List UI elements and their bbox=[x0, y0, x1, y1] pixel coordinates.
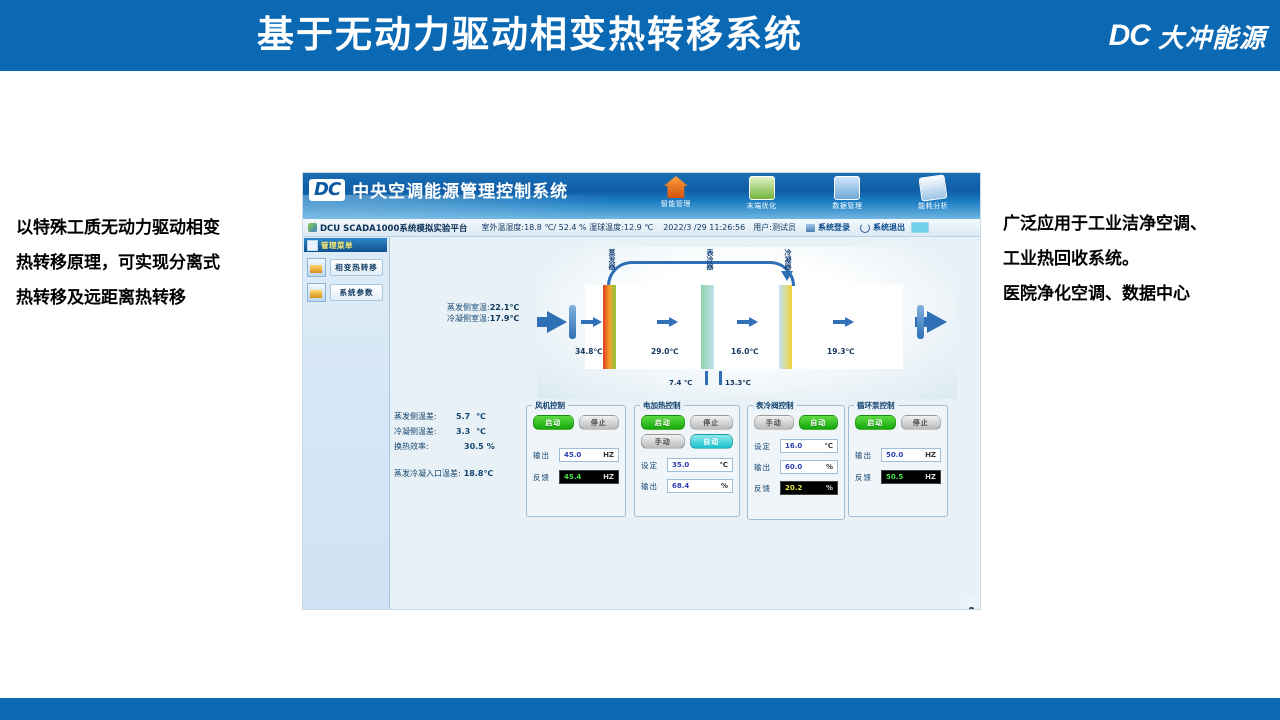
heater-setpoint-row: 设定 35.0 ℃ bbox=[641, 458, 733, 472]
pump-feedback-field: 50.5 HZ bbox=[881, 470, 941, 484]
panel-1-buttons-row-0: 启动 停止 bbox=[641, 415, 733, 430]
cooling-coil-label: 表冷器 bbox=[701, 249, 714, 270]
heater-setpoint-field[interactable]: 35.0 ℃ bbox=[667, 458, 733, 472]
valve-output-label: 输出 bbox=[754, 462, 776, 473]
panel-title-3: 循环泵控制 bbox=[854, 400, 898, 411]
slide-footer bbox=[0, 698, 1280, 720]
performance-stats: 蒸发侧温差: 5.7 ℃ 冷凝侧温差: 3.3 ℃ 换热效率: 30.5 % 蒸… bbox=[394, 409, 495, 481]
flow-arrow-icon-4 bbox=[845, 317, 854, 327]
nav-label-1: 末端优化 bbox=[723, 201, 801, 211]
valve-setpoint-unit: ℃ bbox=[825, 442, 833, 450]
refresh-icon bbox=[749, 176, 775, 200]
flow-arrow-icon-1 bbox=[593, 317, 602, 327]
heater-output-row: 输出 68.4 % bbox=[641, 479, 733, 493]
heater-output-field[interactable]: 68.4 % bbox=[667, 479, 733, 493]
panel-0-buttons-row-0: 启动 停止 bbox=[533, 415, 619, 430]
fan-output-label: 输出 bbox=[533, 450, 555, 461]
login-button[interactable]: 系统登录 bbox=[806, 222, 850, 233]
process-diagram: 蒸发器 表冷器 冷凝器 34.8℃ 29.0℃ 16.0℃ 19.3℃ 7.4 … bbox=[537, 247, 957, 399]
inlet-air-arrow-icon bbox=[547, 311, 567, 333]
stat-unit-1: ℃ bbox=[476, 424, 486, 439]
scada-brand: DC 中央空调能源管理控制系统 bbox=[309, 177, 568, 202]
nav-label-0: 智能管理 bbox=[637, 199, 715, 209]
caption-right-line-2: 工业热回收系统。 bbox=[1003, 241, 1280, 276]
brand-name-text: 大冲能源 bbox=[1158, 18, 1266, 55]
nav-item-terminal-optimization[interactable]: 末端优化 bbox=[723, 175, 801, 211]
status-chip bbox=[911, 222, 929, 233]
menu-icon bbox=[307, 240, 318, 251]
loop-arrow-icon bbox=[781, 271, 793, 281]
nav-item-energy-analysis[interactable]: 能耗分析 bbox=[894, 175, 972, 211]
valve-output-value: 60.0 bbox=[785, 463, 802, 471]
module-icon bbox=[307, 283, 326, 302]
panel-title-0: 风机控制 bbox=[532, 400, 568, 411]
valve-output-row: 输出 60.0 % bbox=[754, 460, 838, 474]
report-icon bbox=[919, 174, 948, 201]
evap-room-label: 蒸发侧室温: bbox=[447, 303, 490, 312]
nav-item-intelligent-management[interactable]: 智能管理 bbox=[637, 175, 715, 211]
stat-label-2: 换热效率: bbox=[394, 439, 456, 454]
valve-output-field[interactable]: 60.0 % bbox=[780, 460, 838, 474]
fan-feedback-value: 45.4 bbox=[564, 473, 581, 481]
sidebar-item-system-params[interactable]: 系统参数 bbox=[307, 283, 389, 302]
heater-start-button[interactable]: 启动 bbox=[641, 415, 685, 430]
scada-status-bar: DCU SCADA1000系统模拟实验平台 室外温湿度:18.8 ℃/ 52.4… bbox=[303, 219, 980, 237]
fan-feedback-field: 45.4 HZ bbox=[559, 470, 619, 484]
login-label: 系统登录 bbox=[818, 222, 850, 233]
stat-value-3: 18.8℃ bbox=[464, 466, 493, 481]
pump-feedback-label: 反馈 bbox=[855, 472, 877, 483]
pump-output-unit: HZ bbox=[925, 451, 936, 459]
brand-abbr-text: DC bbox=[1109, 19, 1150, 53]
scada-banner: DC 中央空调能源管理控制系统 智能管理 末端优化 数据管理 能耗分析 bbox=[303, 173, 980, 219]
sidebar-header-label: 管理菜单 bbox=[321, 240, 353, 251]
stat-value-2: 30.5 bbox=[464, 439, 484, 454]
fan-output-unit: HZ bbox=[603, 451, 614, 459]
current-user: 用户:测试员 bbox=[753, 222, 796, 233]
stat-row-2: 换热效率: 30.5 % bbox=[394, 439, 495, 454]
bottom-temp-1: 13.3℃ bbox=[725, 379, 751, 387]
dc-logo-icon: DC bbox=[309, 179, 345, 201]
panel-cooling-valve-control: 表冷阀控制 手动 自动 设定 16.0 ℃ 输出 60.0 % bbox=[747, 405, 845, 520]
heater-output-value: 68.4 bbox=[672, 482, 689, 490]
platform-icon bbox=[308, 223, 317, 232]
logout-button[interactable]: 系统退出 bbox=[860, 222, 905, 233]
flow-arrow-icon-2 bbox=[669, 317, 678, 327]
heater-manual-button[interactable]: 手动 bbox=[641, 434, 685, 449]
panel-3-buttons-row-0: 启动 停止 bbox=[855, 415, 941, 430]
sidebar-item-label-1: 系统参数 bbox=[330, 284, 383, 301]
slide-header: 基于无动力驱动相变热转移系统 DC 大冲能源 bbox=[0, 0, 1280, 71]
heater-setpoint-label: 设定 bbox=[641, 460, 663, 471]
stat-row-1: 冷凝侧温差: 3.3 ℃ bbox=[394, 424, 495, 439]
stat-label-3: 蒸发冷凝入口温差: bbox=[394, 466, 461, 481]
caption-left-line-2: 热转移原理，可实现分离式 bbox=[16, 245, 296, 280]
nav-item-data-management[interactable]: 数据管理 bbox=[808, 175, 886, 211]
bottom-temp-0: 7.4 ℃ bbox=[669, 379, 692, 387]
stats-spacer bbox=[394, 454, 495, 466]
pump-start-button[interactable]: 启动 bbox=[855, 415, 896, 430]
valve-setpoint-row: 设定 16.0 ℃ bbox=[754, 439, 838, 453]
cond-room-label: 冷凝侧室温: bbox=[447, 314, 490, 323]
air-temp-2: 16.0℃ bbox=[731, 347, 759, 356]
valve-auto-button[interactable]: 自动 bbox=[799, 415, 839, 430]
pump-feedback-row: 反馈 50.5 HZ bbox=[855, 470, 941, 484]
air-temp-3: 19.3℃ bbox=[827, 347, 855, 356]
valve-feedback-row: 反馈 20.2 % bbox=[754, 481, 838, 495]
air-temp-1: 29.0℃ bbox=[651, 347, 679, 356]
tick-mark-left bbox=[705, 371, 708, 385]
cond-room-value: 17.9℃ bbox=[490, 314, 519, 323]
panel-fan-control: 风机控制 启动 停止 输出 45.0 HZ 反馈 45.4 HZ bbox=[526, 405, 626, 517]
air-temp-0: 34.8℃ bbox=[575, 347, 603, 356]
pump-feedback-value: 50.5 bbox=[886, 473, 903, 481]
pump-output-label: 输出 bbox=[855, 450, 877, 461]
caption-left-line-1: 以特殊工质无动力驱动相变 bbox=[16, 210, 296, 245]
scada-screenshot: DC 中央空调能源管理控制系统 智能管理 末端优化 数据管理 能耗分析 bbox=[302, 172, 981, 610]
sidebar-item-phase-change[interactable]: 相变热转移 bbox=[307, 258, 389, 277]
pump-output-row: 输出 50.0 HZ bbox=[855, 448, 941, 462]
flow-tail-2 bbox=[657, 320, 669, 324]
condenser-label: 冷凝器 bbox=[779, 249, 792, 270]
valve-feedback-field: 20.2 % bbox=[780, 481, 838, 495]
tick-mark-right bbox=[719, 371, 722, 385]
outlet-air-arrow-icon bbox=[927, 311, 947, 333]
pump-output-value: 50.0 bbox=[886, 451, 903, 459]
caption-left: 以特殊工质无动力驱动相变 热转移原理，可实现分离式 热转移及远距离热转移 bbox=[16, 210, 296, 315]
fan-output-field[interactable]: 45.0 HZ bbox=[559, 448, 619, 462]
stat-value-1: 3.3 bbox=[456, 424, 470, 439]
valve-setpoint-field[interactable]: 16.0 ℃ bbox=[780, 439, 838, 453]
stat-unit-2: % bbox=[487, 439, 495, 454]
pump-feedback-unit: HZ bbox=[925, 473, 936, 481]
panel-circulation-pump-control: 循环泵控制 启动 停止 输出 50.0 HZ 反馈 50.5 HZ bbox=[848, 405, 948, 517]
fan-feedback-label: 反馈 bbox=[533, 472, 555, 483]
panel-electric-heater-control: 电加热控制 启动 停止 手动 自动 设定 35.0 ℃ 输出 bbox=[634, 405, 740, 517]
cooling-coil: 表冷器 bbox=[701, 285, 714, 369]
module-icon bbox=[307, 258, 326, 277]
flow-tail-4 bbox=[833, 320, 845, 324]
caption-right-line-1: 广泛应用于工业洁净空调、 bbox=[1003, 206, 1280, 241]
stat-label-1: 冷凝侧温差: bbox=[394, 424, 456, 439]
flow-arrow-icon-3 bbox=[749, 317, 758, 327]
scada-sidebar: 管理菜单 相变热转移 系统参数 bbox=[303, 237, 390, 610]
valve-feedback-value: 20.2 bbox=[785, 484, 802, 492]
panel-1-buttons-row-1: 手动 自动 bbox=[641, 434, 733, 449]
caption-right: 广泛应用于工业洁净空调、 工业热回收系统。 医院净化空调、数据中心 bbox=[1003, 206, 1280, 311]
scada-system-name: 中央空调能源管理控制系统 bbox=[352, 177, 568, 202]
pump-output-field[interactable]: 50.0 HZ bbox=[881, 448, 941, 462]
home-icon bbox=[664, 176, 688, 198]
room-temperature-readout: 蒸发侧室温:22.1℃ 冷凝侧室温:17.9℃ bbox=[447, 302, 519, 324]
heater-setpoint-unit: ℃ bbox=[720, 461, 728, 469]
heater-setpoint-value: 35.0 bbox=[672, 461, 689, 469]
folder-icon bbox=[834, 176, 860, 200]
stat-value-0: 5.7 bbox=[456, 409, 470, 424]
evaporator-label: 蒸发器 bbox=[603, 249, 616, 270]
nav-label-2: 数据管理 bbox=[808, 201, 886, 211]
outlet-damper bbox=[917, 305, 924, 339]
valve-setpoint-label: 设定 bbox=[754, 441, 776, 452]
heater-output-unit: % bbox=[721, 482, 728, 490]
valve-feedback-unit: % bbox=[826, 484, 833, 492]
stat-label-0: 蒸发侧温差: bbox=[394, 409, 456, 424]
valve-manual-button[interactable]: 手动 bbox=[754, 415, 794, 430]
nav-label-3: 能耗分析 bbox=[894, 201, 972, 211]
user-icon bbox=[806, 224, 815, 232]
caption-right-line-3: 医院净化空调、数据中心 bbox=[1003, 276, 1280, 311]
evap-room-value: 22.1℃ bbox=[490, 303, 519, 312]
flow-tail-3 bbox=[737, 320, 749, 324]
caption-left-line-3: 热转移及远距离热转移 bbox=[16, 280, 296, 315]
diagram-duct bbox=[585, 285, 903, 369]
condenser-coil: 冷凝器 bbox=[779, 285, 792, 369]
page-title: 基于无动力驱动相变热转移系统 bbox=[0, 6, 1060, 64]
system-datetime: 2022/3 /29 11:26:56 bbox=[663, 223, 745, 232]
evaporator-coil: 蒸发器 bbox=[603, 285, 616, 369]
outdoor-conditions: 室外温湿度:18.8 ℃/ 52.4 % 湿球温度:12.9 ℃ bbox=[481, 222, 653, 233]
panel-title-1: 电加热控制 bbox=[640, 400, 684, 411]
heater-output-label: 输出 bbox=[641, 481, 663, 492]
fan-output-row: 输出 45.0 HZ bbox=[533, 448, 619, 462]
vertical-scrollbar-thumb[interactable] bbox=[969, 607, 974, 610]
scada-nav: 智能管理 末端优化 数据管理 能耗分析 bbox=[633, 175, 976, 211]
fan-start-button[interactable]: 启动 bbox=[533, 415, 574, 430]
stat-row-3: 蒸发冷凝入口温差: 18.8℃ bbox=[394, 466, 495, 481]
valve-setpoint-value: 16.0 bbox=[785, 442, 802, 450]
panel-2-buttons-row-0: 手动 自动 bbox=[754, 415, 838, 430]
heater-stop-button[interactable]: 停止 bbox=[690, 415, 734, 430]
sidebar-item-label-0: 相变热转移 bbox=[330, 259, 383, 276]
valve-feedback-label: 反馈 bbox=[754, 483, 776, 494]
fan-feedback-row: 反馈 45.4 HZ bbox=[533, 470, 619, 484]
stat-unit-0: ℃ bbox=[476, 409, 486, 424]
heater-auto-button[interactable]: 自动 bbox=[690, 434, 734, 449]
platform-title: DCU SCADA1000系统模拟实验平台 bbox=[320, 222, 467, 234]
scada-body: 管理菜单 相变热转移 系统参数 蒸发侧室温:22.1℃ 冷凝侧室温:17.9℃ bbox=[303, 237, 980, 610]
scada-main-pane: 蒸发侧室温:22.1℃ 冷凝侧室温:17.9℃ bbox=[389, 237, 980, 610]
flow-tail-1 bbox=[581, 320, 593, 324]
brand-logo: DC 大冲能源 bbox=[1109, 14, 1266, 58]
stat-row-0: 蒸发侧温差: 5.7 ℃ bbox=[394, 409, 495, 424]
valve-output-unit: % bbox=[826, 463, 833, 471]
panel-title-2: 表冷阀控制 bbox=[753, 400, 797, 411]
inlet-damper bbox=[569, 305, 576, 339]
power-icon bbox=[860, 223, 870, 233]
pump-stop-button[interactable]: 停止 bbox=[901, 415, 942, 430]
fan-output-value: 45.0 bbox=[564, 451, 581, 459]
logout-label: 系统退出 bbox=[873, 222, 905, 233]
fan-feedback-unit: HZ bbox=[603, 473, 614, 481]
fan-stop-button[interactable]: 停止 bbox=[579, 415, 620, 430]
sidebar-header: 管理菜单 bbox=[304, 238, 387, 252]
